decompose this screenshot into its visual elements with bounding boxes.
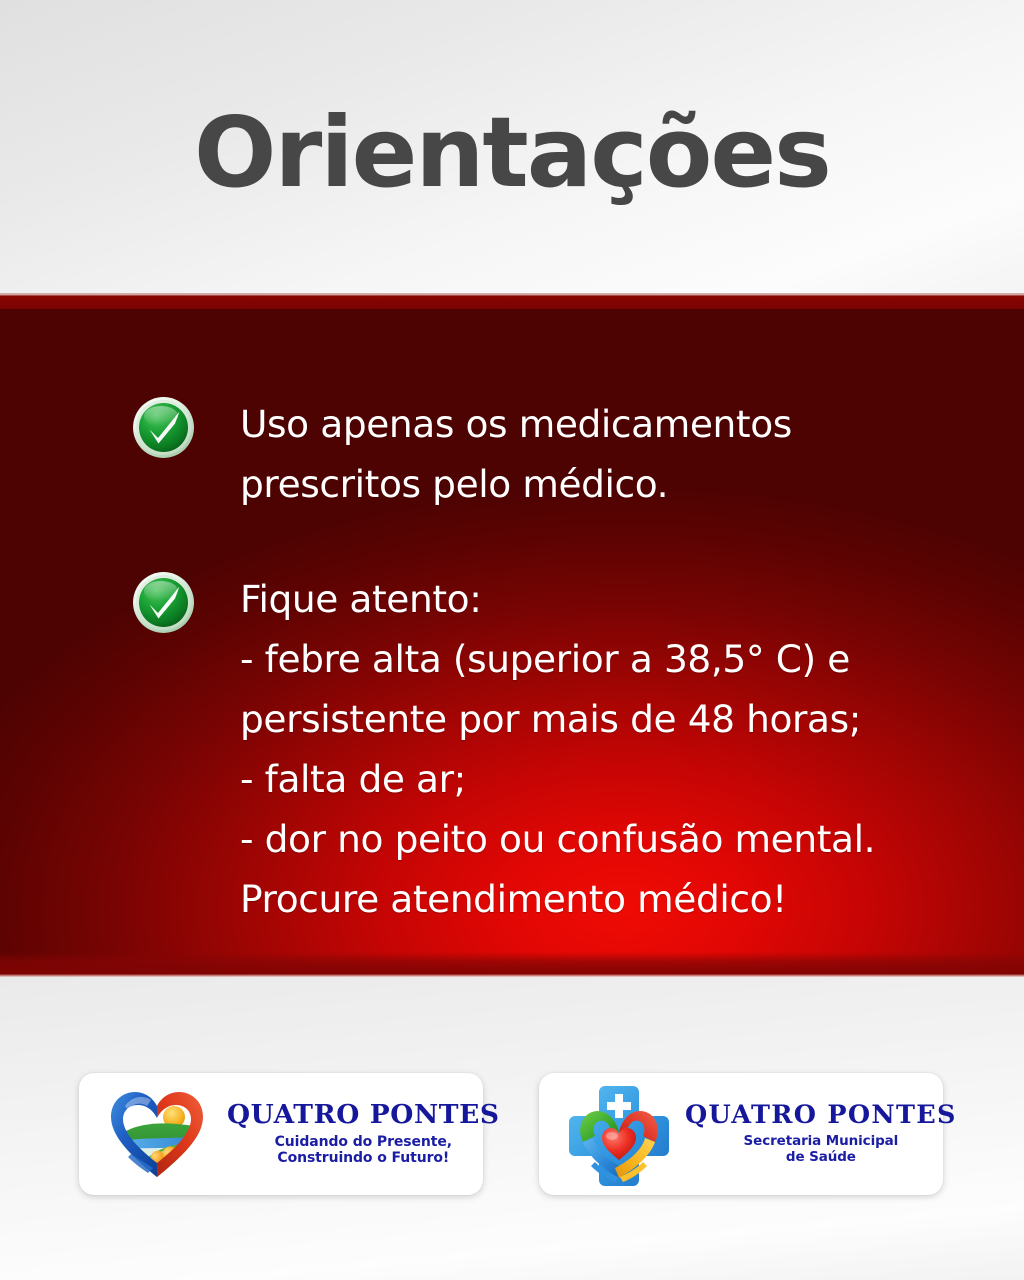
logo-card-saude: QUATRO PONTES Secretaria Municipal de Sa… [539,1073,943,1195]
content-band: Uso apenas os medicamentos prescritos pe… [0,293,1024,977]
logo-tagline: Secretaria Municipal de Saúde [744,1134,899,1166]
logo-name: QUATRO PONTES [227,1101,500,1129]
band-bottom-strip [0,952,1024,974]
list-item: Uso apenas os medicamentos prescritos pe… [132,394,792,514]
list-item-text: Uso apenas os medicamentos prescritos pe… [240,394,792,514]
list-item: Fique atento: - febre alta (superior a 3… [132,569,875,929]
logo-tagline: Cuidando do Presente, Construindo o Futu… [275,1134,452,1167]
heart-hands-landscape-emblem [101,1084,213,1184]
list-item-text: Fique atento: - febre alta (superior a 3… [240,569,875,929]
footer-zone: QUATRO PONTES Cuidando do Presente, Cons… [0,977,1024,1280]
header-zone: Orientações [0,0,1024,293]
health-cross-heart-hands-emblem [565,1082,673,1186]
band-top-strip [0,296,1024,309]
poster-canvas: Orientações [0,0,1024,1280]
logo-name: QUATRO PONTES [685,1102,957,1129]
page-title: Orientações [0,104,1024,201]
logo-text-block: QUATRO PONTES Cuidando do Presente, Cons… [227,1101,500,1167]
logo-text-block: QUATRO PONTES Secretaria Municipal de Sa… [685,1102,957,1166]
green-check-icon [132,396,195,459]
logo-card-prefeitura: QUATRO PONTES Cuidando do Presente, Cons… [79,1073,483,1195]
green-check-icon [132,571,195,634]
